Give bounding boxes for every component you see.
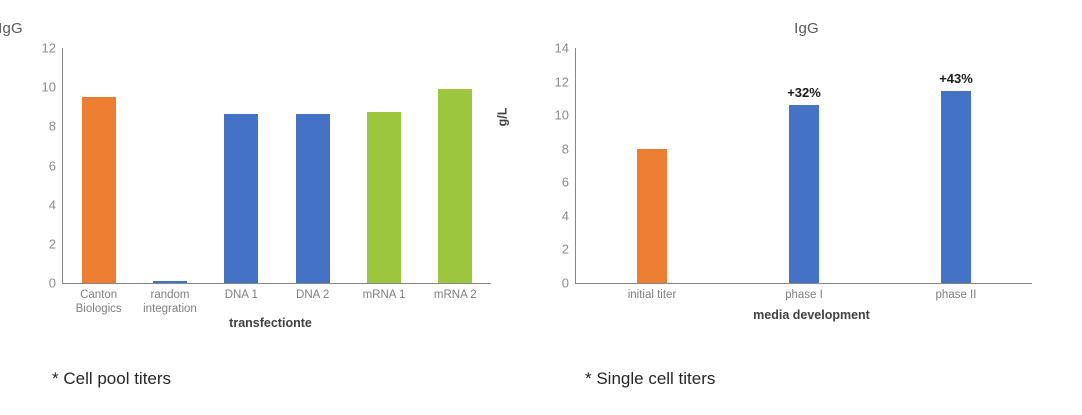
bar-slot — [277, 48, 348, 283]
y-axis-tick: 12 — [555, 74, 576, 89]
x-axis-label: mRNA 1 — [348, 289, 419, 316]
x-axis-label-line: mRNA 1 — [348, 289, 419, 303]
chart-panel-cell-pool-titers: IgG g/L 121086420 CantonBiologicsrandomi… — [0, 0, 541, 415]
bar-slot — [206, 48, 277, 283]
y-axis-tick: 14 — [555, 41, 576, 56]
bar[interactable]: +32% — [789, 105, 819, 283]
chart-panel-single-cell-titers: IgG g/L 14121086420 +32%+43% initial tit… — [541, 0, 1082, 415]
y-axis-tick: 6 — [49, 158, 63, 173]
y-axis-tick: 6 — [562, 175, 576, 190]
y-axis-title: g/L — [495, 108, 509, 127]
x-axis-label: initial titer — [576, 289, 728, 303]
y-axis-tick: 4 — [562, 208, 576, 223]
y-axis-tick: 2 — [49, 236, 63, 251]
x-axis-labels: initial titerphase Iphase II — [576, 283, 1032, 303]
x-axis-label: phase II — [880, 289, 1032, 303]
x-axis-label-line: mRNA 2 — [420, 289, 491, 303]
y-axis-tick: 10 — [42, 80, 63, 95]
bar-data-label: +32% — [787, 85, 821, 100]
x-axis-label-line: phase I — [728, 289, 880, 303]
x-axis-label-line: random — [134, 289, 205, 303]
bar-series: +32%+43% — [576, 48, 1032, 283]
x-axis-label-line: DNA 1 — [206, 289, 277, 303]
bar[interactable]: +43% — [941, 91, 971, 283]
bar[interactable] — [224, 114, 258, 283]
y-axis-tick: 0 — [562, 276, 576, 291]
chart-title: IgG — [536, 20, 1077, 37]
caption-single-cell: * Single cell titers — [585, 369, 715, 389]
x-axis-label-line: Biologics — [63, 303, 134, 317]
x-axis-label: DNA 2 — [277, 289, 348, 316]
bar-data-label: +43% — [939, 71, 973, 86]
x-axis-label: randomintegration — [134, 289, 205, 316]
bar[interactable] — [637, 149, 667, 283]
y-axis-tick: 4 — [49, 197, 63, 212]
bar-series — [63, 48, 491, 283]
plot-area: 121086420 CantonBiologicsrandomintegrati… — [62, 48, 491, 284]
x-axis-labels: CantonBiologicsrandomintegrationDNA 1DNA… — [63, 283, 491, 316]
x-axis-label: mRNA 2 — [420, 289, 491, 316]
caption-cell-pool: * Cell pool titers — [52, 369, 171, 389]
x-axis-label: DNA 1 — [206, 289, 277, 316]
bar[interactable] — [367, 112, 401, 283]
x-axis-label-line: Canton — [63, 289, 134, 303]
y-axis-tick: 0 — [49, 276, 63, 291]
figure-root: IgG g/L 121086420 CantonBiologicsrandomi… — [0, 0, 1082, 415]
bar-slot — [134, 48, 205, 283]
bar-slot — [348, 48, 419, 283]
chart-title: IgG — [0, 20, 281, 37]
y-axis-tick: 8 — [562, 141, 576, 156]
y-axis-tick: 12 — [42, 41, 63, 56]
x-axis-label-line: initial titer — [576, 289, 728, 303]
x-axis-label-line: DNA 2 — [277, 289, 348, 303]
x-axis-label-line: integration — [134, 303, 205, 317]
y-axis-tick: 8 — [49, 119, 63, 134]
x-axis-title: media development — [541, 308, 1082, 322]
y-axis-tick: 2 — [562, 242, 576, 257]
bar-slot — [420, 48, 491, 283]
x-axis-label-line: phase II — [880, 289, 1032, 303]
bar-slot — [576, 48, 728, 283]
bar-slot: +32% — [728, 48, 880, 283]
bar-slot — [63, 48, 134, 283]
bar[interactable] — [438, 89, 472, 283]
x-axis-label: CantonBiologics — [63, 289, 134, 316]
bar-slot: +43% — [880, 48, 1032, 283]
bar[interactable] — [296, 114, 330, 283]
x-axis-label: phase I — [728, 289, 880, 303]
plot-area: 14121086420 +32%+43% initial titerphase … — [575, 48, 1032, 284]
y-axis-tick: 10 — [555, 108, 576, 123]
x-axis-title: transfectionte — [0, 316, 541, 330]
bar[interactable] — [82, 97, 116, 283]
